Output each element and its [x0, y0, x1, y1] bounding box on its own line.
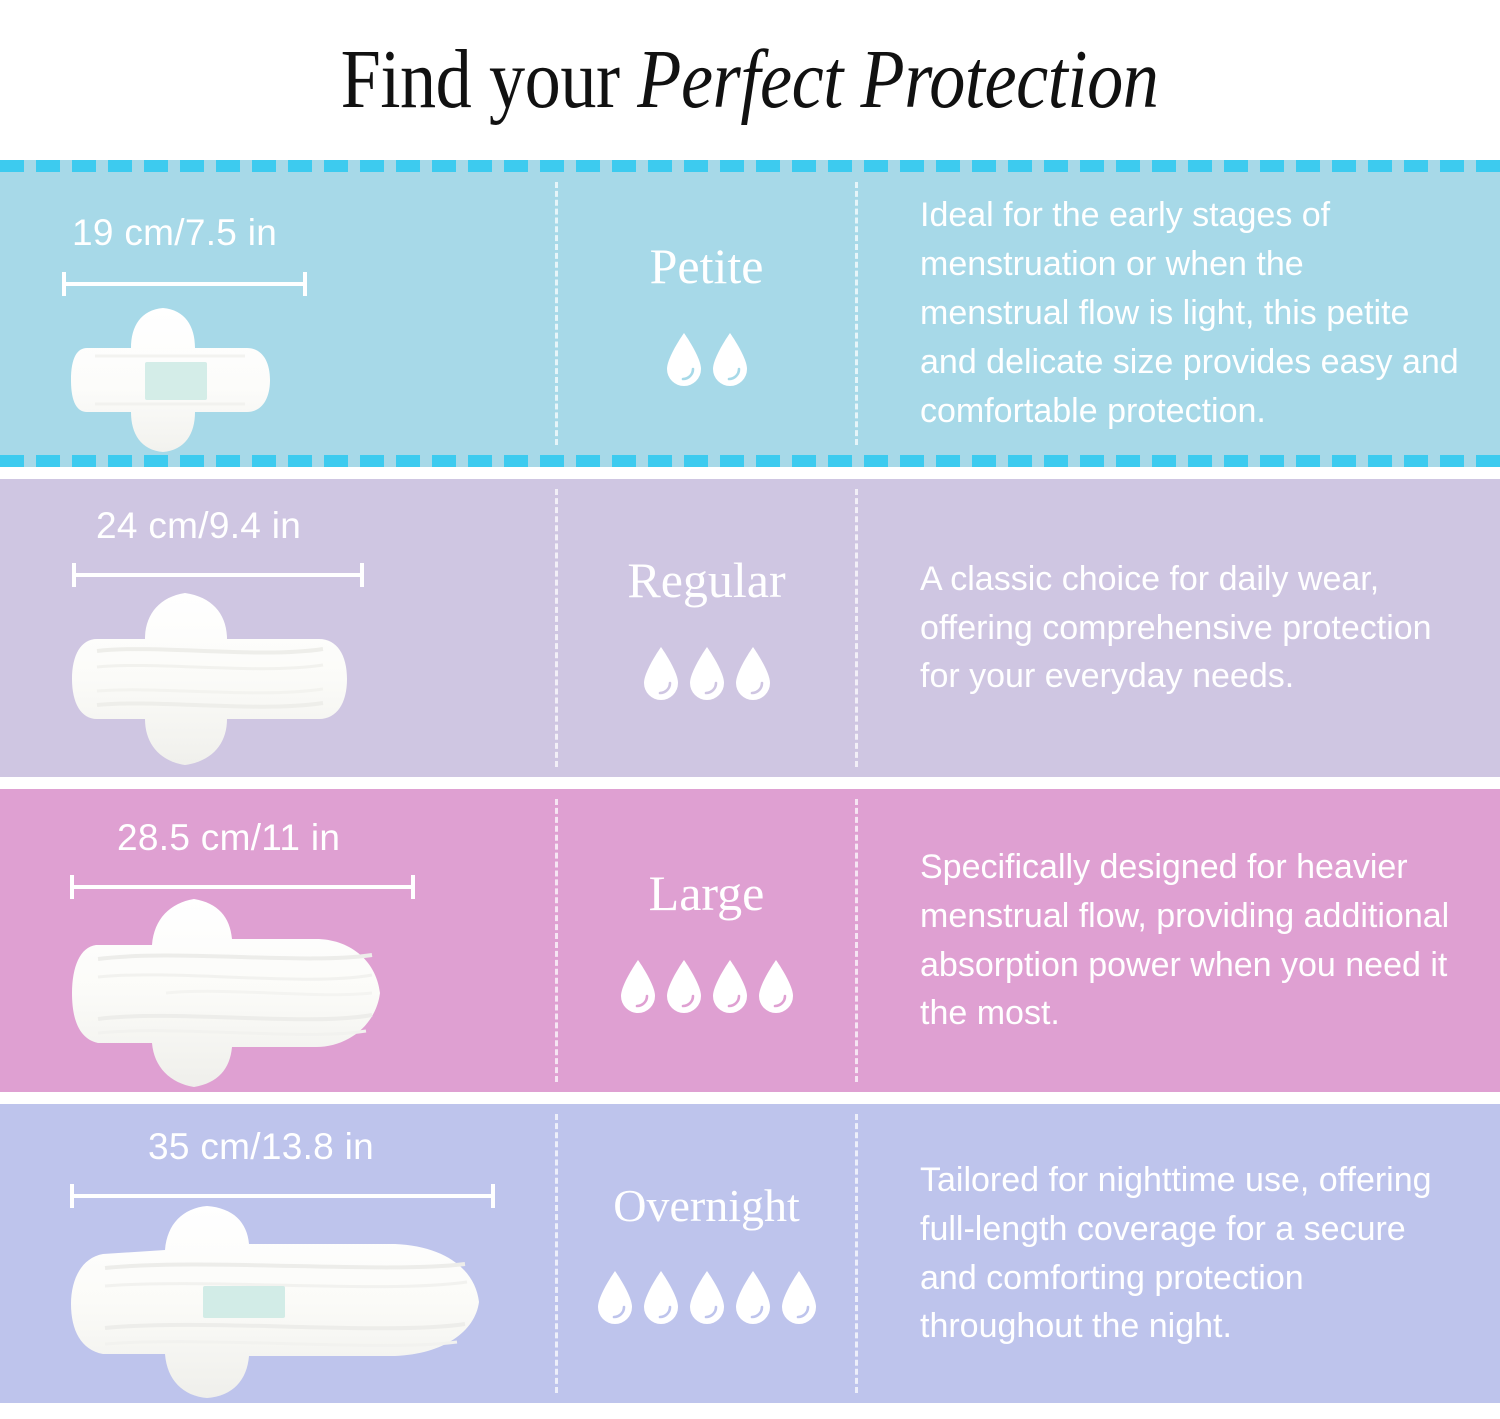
droplet-icon: [709, 958, 751, 1014]
description-cell-overnight: Tailored for nighttime use, offering ful…: [858, 1104, 1500, 1403]
divider-left: [555, 1114, 558, 1393]
measure-line: [72, 573, 364, 577]
page-title-plain: Find your: [341, 33, 638, 126]
pad-illustration-overnight: [65, 1204, 485, 1400]
measure-line: [62, 282, 307, 286]
size-dimension-label: 24 cm/9.4 in: [96, 505, 301, 547]
size-cell-overnight: 35 cm/13.8 in: [0, 1104, 555, 1403]
absorbency-drops: [617, 958, 797, 1014]
pad-illustration-petite: [65, 300, 280, 460]
description-text: A classic choice for daily wear, offerin…: [858, 555, 1490, 702]
size-name-label: Regular: [627, 555, 785, 605]
name-cell-petite: Petite: [555, 172, 858, 455]
measurement-bar: [72, 563, 364, 587]
measurement-bar: [62, 272, 307, 296]
measure-cap-right: [411, 875, 415, 899]
droplet-icon: [663, 331, 705, 387]
name-cell-regular: Regular: [555, 479, 858, 777]
droplet-icon: [732, 1269, 774, 1325]
size-cell-regular: 24 cm/9.4 in: [0, 479, 555, 777]
size-dimension-label: 35 cm/13.8 in: [148, 1126, 374, 1168]
absorbency-drops: [640, 645, 774, 701]
measure-cap-right: [360, 563, 364, 587]
measure-cap-left: [62, 272, 66, 296]
droplet-icon: [686, 645, 728, 701]
divider-left: [555, 489, 558, 767]
page-title: Find your Perfect Protection: [341, 38, 1159, 122]
measure-cap-right: [303, 272, 307, 296]
pad-illustration-regular: [67, 589, 352, 769]
divider-left: [555, 799, 558, 1082]
pad-illustration-large: [66, 897, 406, 1089]
droplet-icon: [640, 645, 682, 701]
size-dimension-label: 19 cm/7.5 in: [72, 212, 277, 254]
droplet-icon: [640, 1269, 682, 1325]
description-text: Specifically designed for heavier menstr…: [858, 843, 1500, 1039]
table-row-petite: 19 cm/7.5 in: [0, 160, 1500, 467]
measure-cap-right: [491, 1184, 495, 1208]
droplet-icon: [663, 958, 705, 1014]
size-name-label: Large: [649, 868, 765, 918]
measure-cap-left: [72, 563, 76, 587]
droplet-icon: [709, 331, 751, 387]
description-text: Ideal for the early stages of menstruati…: [858, 191, 1500, 436]
size-name-label: Overnight: [613, 1183, 800, 1229]
droplet-icon: [755, 958, 797, 1014]
measure-line: [70, 885, 415, 889]
name-cell-overnight: Overnight: [555, 1104, 858, 1403]
description-cell-large: Specifically designed for heavier menstr…: [858, 789, 1500, 1092]
size-dimension-label: 28.5 cm/11 in: [117, 817, 340, 859]
table-row-overnight: 35 cm/13.8 in: [0, 1104, 1500, 1403]
page-title-emphasis: Perfect Protection: [638, 33, 1159, 126]
page-header: Find your Perfect Protection: [0, 0, 1500, 160]
droplet-icon: [732, 645, 774, 701]
table-row-regular: 24 cm/9.4 in: [0, 479, 1500, 777]
measure-cap-left: [70, 875, 74, 899]
measure-line: [70, 1194, 495, 1198]
droplet-icon: [617, 958, 659, 1014]
size-name-label: Petite: [650, 241, 764, 291]
size-cell-large: 28.5 cm/11 in: [0, 789, 555, 1092]
absorbency-drops: [663, 331, 751, 387]
divider-left: [555, 182, 558, 445]
name-cell-large: Large: [555, 789, 858, 1092]
size-cell-petite: 19 cm/7.5 in: [0, 172, 555, 455]
droplet-icon: [778, 1269, 820, 1325]
size-comparison-table: 19 cm/7.5 in: [0, 160, 1500, 1403]
droplet-icon: [686, 1269, 728, 1325]
description-cell-petite: Ideal for the early stages of menstruati…: [858, 172, 1500, 455]
absorbency-drops: [594, 1269, 820, 1325]
description-text: Tailored for nighttime use, offering ful…: [858, 1156, 1500, 1352]
measurement-bar: [70, 875, 415, 899]
table-row-large: 28.5 cm/11 in: [0, 789, 1500, 1092]
droplet-icon: [594, 1269, 636, 1325]
description-cell-regular: A classic choice for daily wear, offerin…: [858, 479, 1500, 777]
